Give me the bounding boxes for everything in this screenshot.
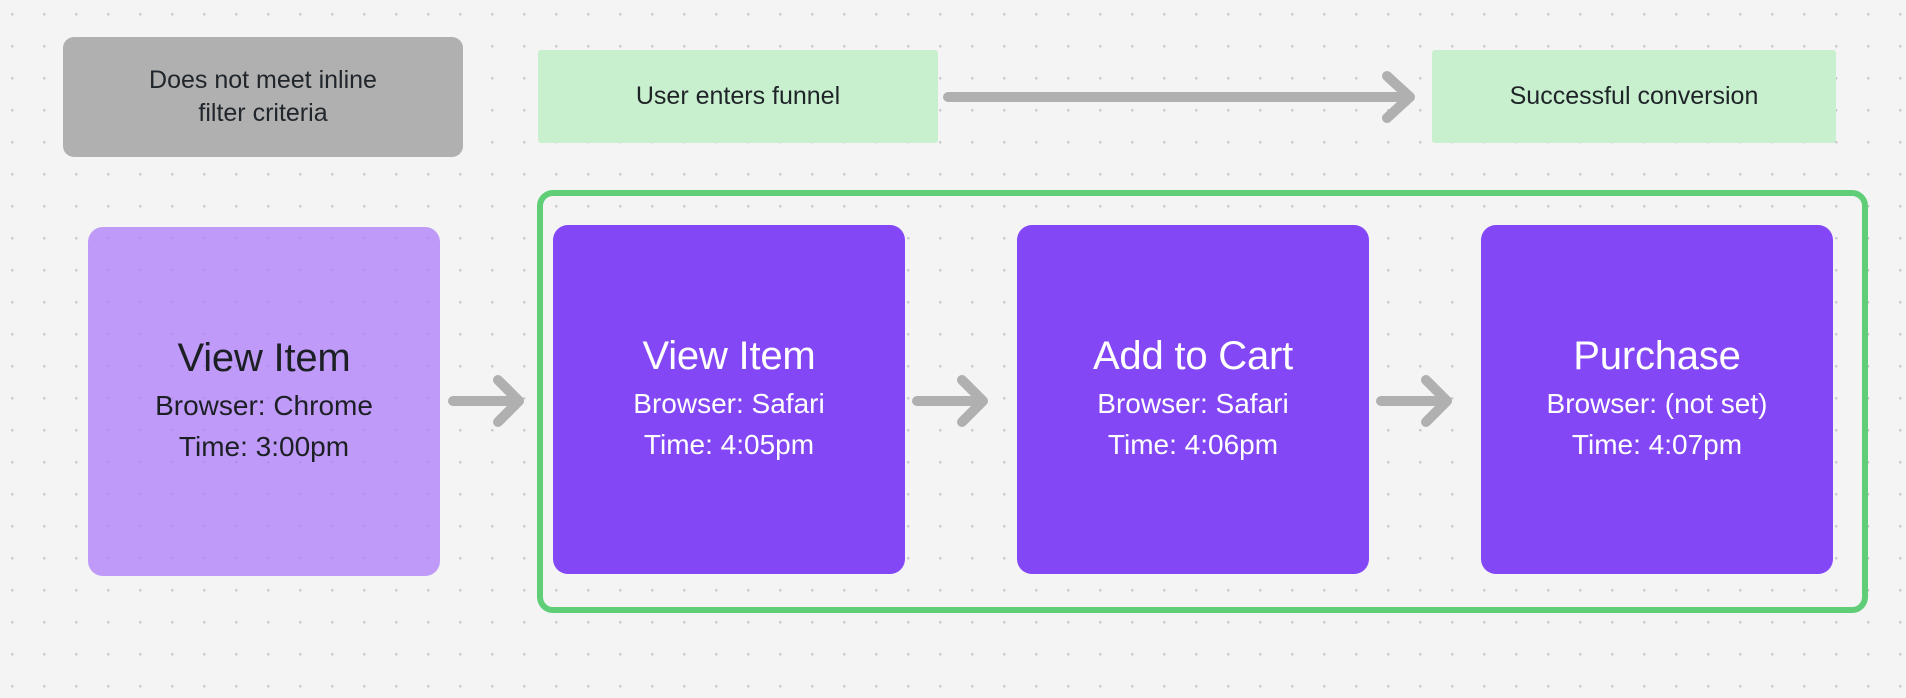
event-card-step-2[interactable]: Add to Cart Browser: Safari Time: 4:06pm [1017,225,1369,574]
event-card-browser: Browser: Safari [1097,384,1288,424]
legend-excluded-text: Does not meet inline filter criteria [149,64,377,130]
event-card-time: Time: 3:00pm [179,427,349,467]
event-card-time: Time: 4:06pm [1108,425,1278,465]
arrow-right-icon [944,72,1426,122]
event-card-browser: Browser: Chrome [155,386,373,426]
legend-excluded-line1: Does not meet inline [149,66,377,94]
event-card-time: Time: 4:05pm [644,425,814,465]
arrow-right-icon [448,375,536,427]
legend-excluded-criteria: Does not meet inline filter criteria [63,37,463,157]
diagram-canvas: Does not meet inline filter criteria Use… [0,0,1906,698]
legend-excluded-line2: filter criteria [198,99,327,127]
legend-enter-label: User enters funnel [636,80,840,113]
legend-flow-arrow [944,72,1426,122]
event-card-title: View Item [642,334,815,379]
event-card-title: Add to Cart [1093,334,1293,379]
event-card-excluded[interactable]: View Item Browser: Chrome Time: 3:00pm [88,227,440,576]
event-card-step-3[interactable]: Purchase Browser: (not set) Time: 4:07pm [1481,225,1833,574]
event-card-title: View Item [177,336,350,381]
legend-user-enters-funnel: User enters funnel [538,50,938,143]
legend-successful-conversion: Successful conversion [1432,50,1836,143]
event-card-browser: Browser: (not set) [1547,384,1768,424]
flow-arrow-1 [448,375,536,427]
legend-success-label: Successful conversion [1510,80,1759,113]
event-card-browser: Browser: Safari [633,384,824,424]
event-card-step-1[interactable]: View Item Browser: Safari Time: 4:05pm [553,225,905,574]
event-card-time: Time: 4:07pm [1572,425,1742,465]
event-card-title: Purchase [1573,334,1740,379]
